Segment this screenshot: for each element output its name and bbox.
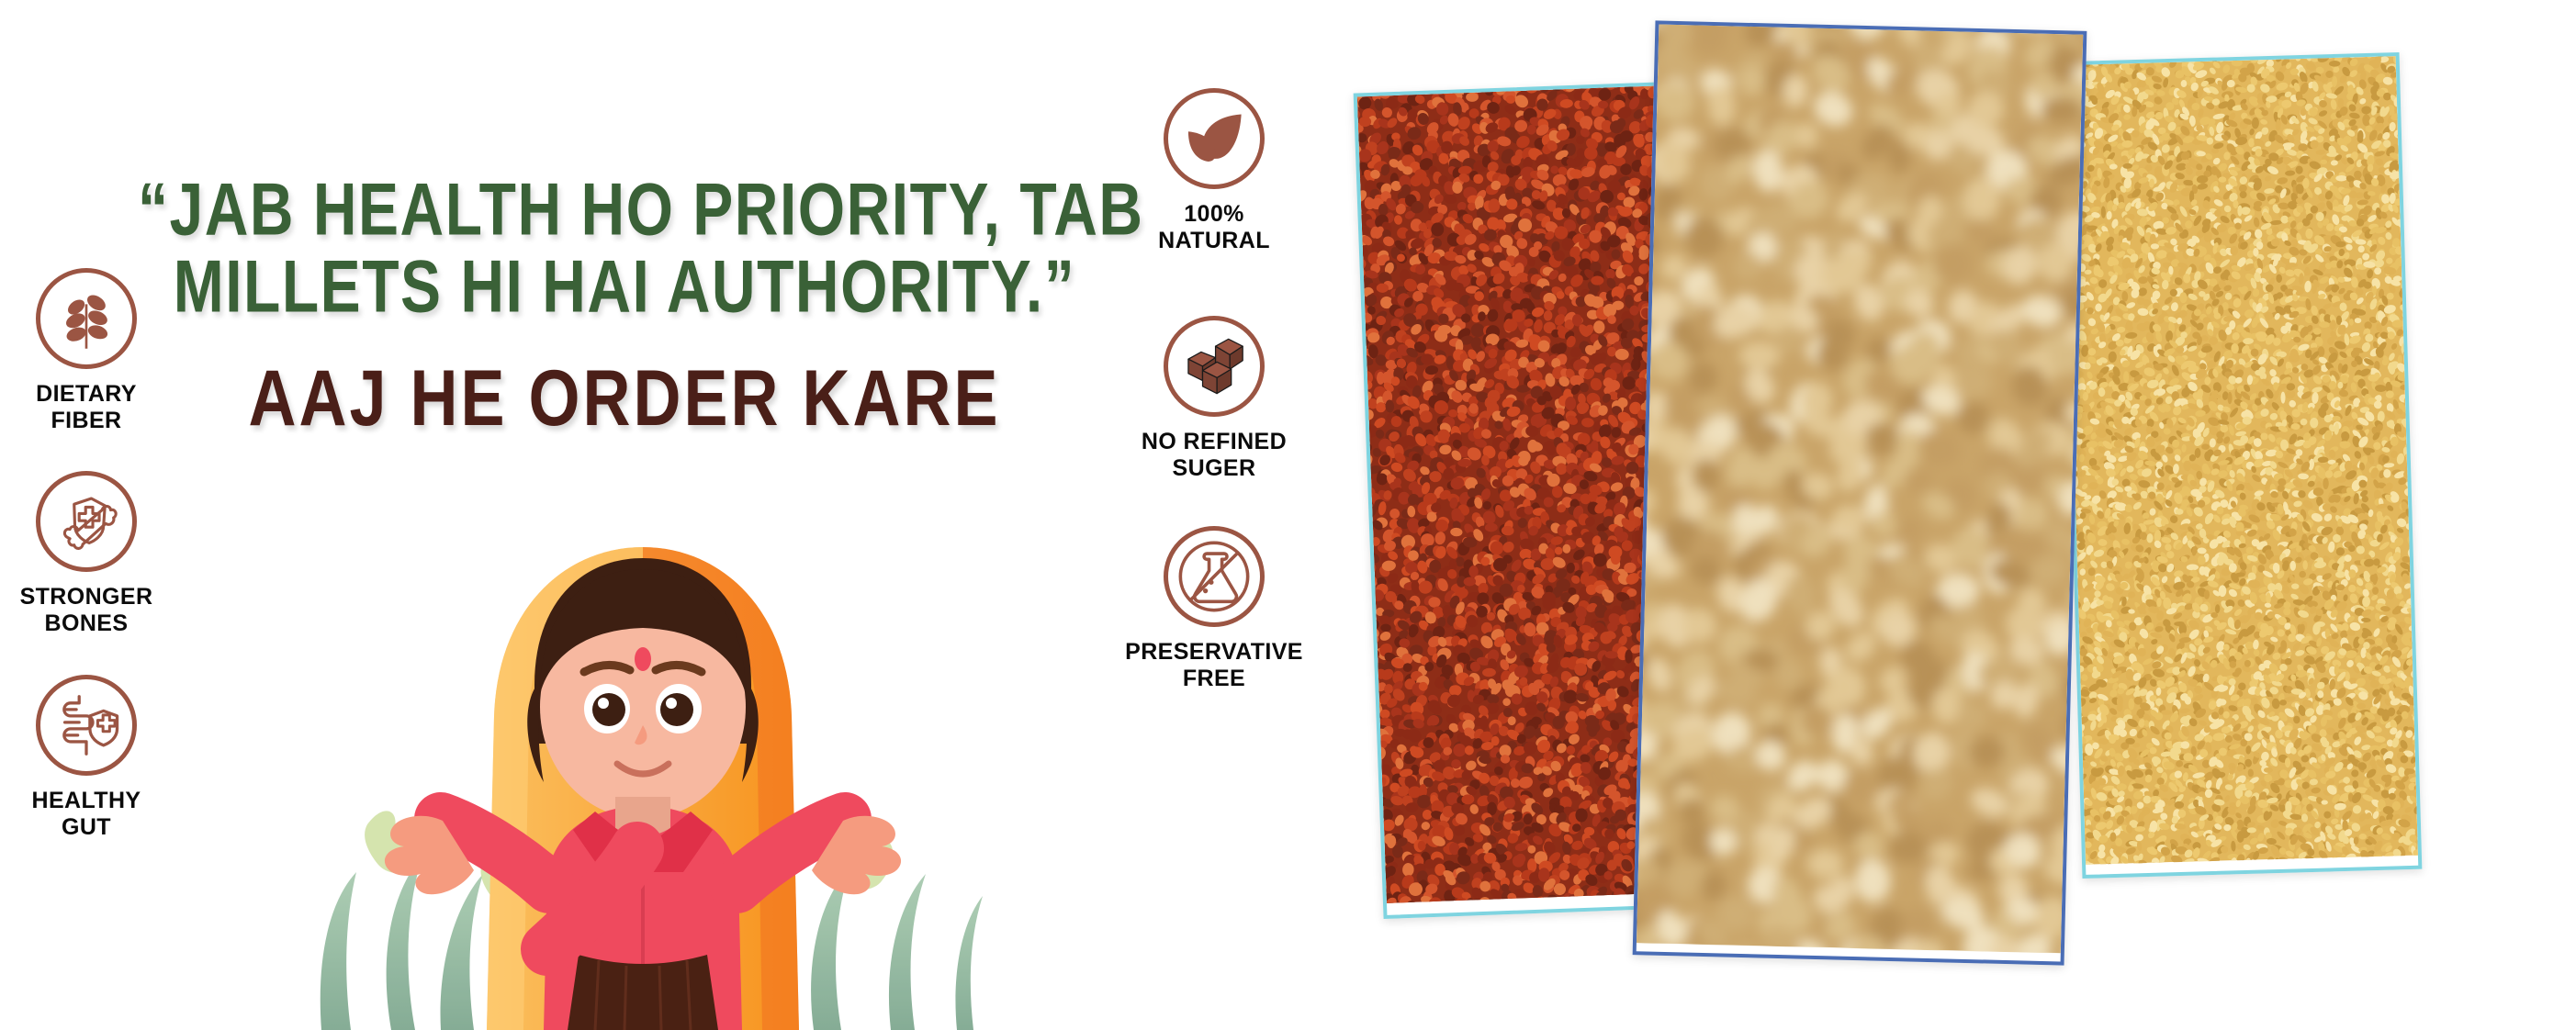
two-leaves-icon	[1164, 88, 1265, 189]
bindi	[635, 647, 651, 671]
benefit-label: 100% NATURAL	[1122, 201, 1306, 254]
benefit-badge-preservative-free: PRESERVATIVE FREE	[1122, 526, 1306, 692]
benefit-label-line2: BONES	[45, 610, 129, 636]
benefit-label: HEALTHY GUT	[0, 788, 178, 841]
benefit-label: STRONGER BONES	[0, 584, 178, 637]
benefit-label-line2: FREE	[1183, 666, 1245, 691]
benefit-badge-no-refined-sugar: NO REFINED SUGER	[1122, 316, 1306, 482]
headline-line-1: “JAB HEALTH HO PRIORITY, TAB	[138, 171, 1111, 249]
product-panel-foxtail-millet	[2060, 52, 2423, 879]
sugar-cubes-icon	[1164, 316, 1265, 417]
benefit-badge-100-natural: 100% NATURAL	[1122, 88, 1306, 254]
headline-line-2: MILLETS HI HAI AUTHORITY.”	[138, 248, 1111, 326]
product-panel-sorghum-jowar	[1633, 20, 2087, 965]
benefit-label-line1: DIETARY	[36, 381, 137, 407]
benefit-label-line2: SUGER	[1173, 455, 1256, 481]
wheat-sprig-icon	[36, 268, 137, 369]
call-to-action-subheadline: AAJ HE ORDER KARE	[138, 353, 1111, 443]
benefit-badge-stronger-bones: STRONGER BONES	[0, 471, 178, 637]
no-flask-icon	[1164, 526, 1265, 627]
benefit-badge-healthy-gut: HEALTHY GUT	[0, 675, 178, 841]
skirt	[568, 955, 718, 1030]
benefit-label-line1: PRESERVATIVE	[1125, 639, 1303, 665]
benefit-label-line1: 100%	[1184, 201, 1244, 227]
jowar-grain-texture	[1637, 25, 2083, 954]
headline: “JAB HEALTH HO PRIORITY, TAB MILLETS HI …	[138, 171, 1111, 312]
benefit-label: PRESERVATIVE FREE	[1095, 639, 1333, 692]
benefit-label-line2: NATURAL	[1158, 228, 1270, 253]
foxtail-grain-texture	[2064, 56, 2418, 865]
benefit-label-line1: HEALTHY	[32, 788, 141, 813]
benefit-label-line1: NO REFINED	[1142, 429, 1287, 454]
bone-shield-icon	[36, 471, 137, 572]
benefit-label-line2: FIBER	[51, 408, 122, 433]
benefit-label-line1: STRONGER	[20, 584, 153, 610]
benefit-label-line2: GUT	[62, 814, 111, 840]
mascot-illustration	[303, 441, 983, 1030]
intestine-shield-icon	[36, 675, 137, 776]
benefit-label: NO REFINED SUGER	[1095, 429, 1333, 482]
